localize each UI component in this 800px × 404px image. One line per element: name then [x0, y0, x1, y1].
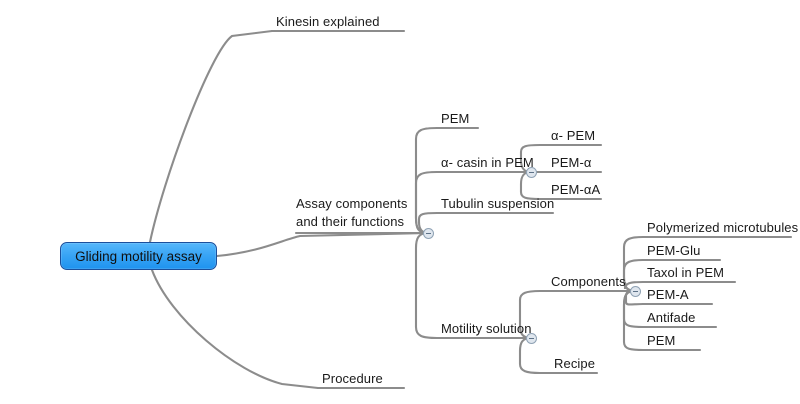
node-label-text: Taxol in PEM: [647, 265, 724, 280]
edge-comp-polymerized: [624, 237, 643, 291]
edge-root-kinesin: [150, 31, 272, 242]
node-taxol-in-pem[interactable]: Taxol in PEM: [647, 265, 724, 280]
node-label-text: PEM: [647, 333, 675, 348]
node-label-text: Recipe: [554, 356, 595, 371]
node-motility-solution[interactable]: Motility solution: [441, 321, 532, 336]
node-label-text: Motility solution: [441, 321, 532, 336]
node-label-text: Tubulin suspension: [441, 196, 554, 211]
node-label-text-line1: Assay components: [296, 195, 426, 213]
mindmap-canvas: Gliding motility assay Kinesin explained…: [0, 0, 800, 404]
node-components[interactable]: Components: [551, 274, 626, 289]
node-pem-alpha-a[interactable]: PEM-αA: [551, 182, 600, 197]
node-label-text-line2: and their functions: [296, 213, 426, 231]
node-pem-leaf[interactable]: PEM: [647, 333, 675, 348]
edge-assay-motility: [416, 233, 437, 338]
node-label-text: α- PEM: [551, 128, 595, 143]
collapse-toggle-alpha-casin[interactable]: [526, 167, 537, 178]
node-label-text: PEM-α: [551, 155, 592, 170]
collapse-toggle-assay-components[interactable]: [423, 228, 434, 239]
node-tubulin-suspension[interactable]: Tubulin suspension: [441, 196, 554, 211]
node-label-text: Kinesin explained: [276, 14, 380, 29]
node-alpha-pem[interactable]: α- PEM: [551, 128, 595, 143]
node-pem-glu[interactable]: PEM-Glu: [647, 243, 700, 258]
node-pem-alpha[interactable]: PEM-α: [551, 155, 592, 170]
edge-root-procedure: [152, 270, 318, 388]
node-pem[interactable]: PEM: [441, 111, 469, 126]
node-recipe[interactable]: Recipe: [554, 356, 595, 371]
node-label-text: PEM-αA: [551, 182, 600, 197]
edge-comp-pem: [624, 291, 643, 350]
collapse-toggle-motility-solution[interactable]: [526, 333, 537, 344]
node-procedure[interactable]: Procedure: [322, 371, 383, 386]
node-label-text: Components: [551, 274, 626, 289]
node-antifade[interactable]: Antifade: [647, 310, 696, 325]
root-node-label: Gliding motility assay: [75, 249, 202, 264]
root-node[interactable]: Gliding motility assay: [60, 242, 217, 270]
node-label-text: Antifade: [647, 310, 696, 325]
node-pem-a[interactable]: PEM-A: [647, 287, 689, 302]
node-kinesin-explained[interactable]: Kinesin explained: [276, 14, 380, 29]
node-label-text: PEM-A: [647, 287, 689, 302]
collapse-toggle-components[interactable]: [630, 286, 641, 297]
node-label-text: Procedure: [322, 371, 383, 386]
node-label-text: Polymerized microtubules: [647, 220, 798, 235]
node-label-text: PEM: [441, 111, 469, 126]
edge-root-assay: [217, 233, 428, 256]
node-polymerized-microtubules[interactable]: Polymerized microtubules: [647, 220, 798, 235]
node-label-text: α- casin in PEM: [441, 155, 534, 170]
node-alpha-casin-in-pem[interactable]: α- casin in PEM: [441, 155, 534, 170]
node-assay-components[interactable]: Assay components and their functions: [296, 195, 426, 231]
node-label-text: PEM-Glu: [647, 243, 700, 258]
